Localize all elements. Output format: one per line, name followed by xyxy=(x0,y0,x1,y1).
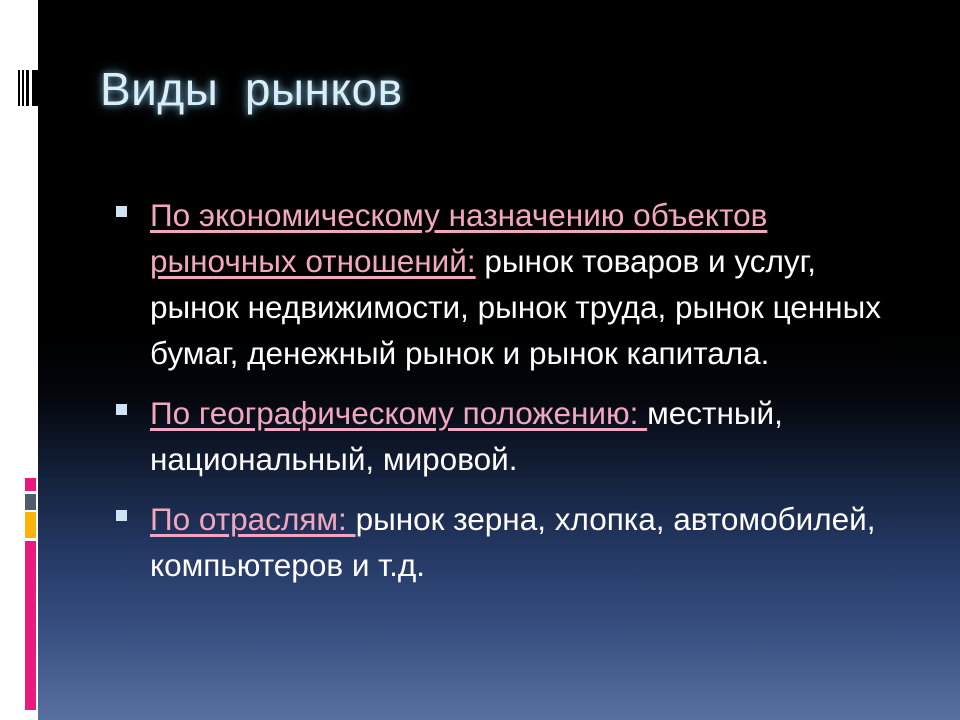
left-decorative-rail xyxy=(0,0,38,720)
rail-chip-gray xyxy=(25,494,36,510)
list-item: По географическому положению: местный, н… xyxy=(113,390,913,482)
barcode-stripes-icon xyxy=(18,70,38,106)
barcode-stripe xyxy=(22,70,24,106)
list-item-text: По отраслям: рынок зерна, хлопка, автомо… xyxy=(150,496,913,588)
slide-title: Виды рынков xyxy=(100,62,403,116)
barcode-stripe xyxy=(26,70,29,106)
list-item-lead: По отраслям: xyxy=(150,501,356,537)
bullet-list: По экономическому назначению объектов ры… xyxy=(113,192,913,602)
slide-canvas: Виды рынков По экономическому назначению… xyxy=(0,0,960,720)
bullet-square-icon xyxy=(116,510,127,521)
barcode-stripe xyxy=(18,70,20,106)
rail-chip-pink-top xyxy=(25,478,36,491)
rail-chip-pink-long xyxy=(25,541,36,710)
list-item-lead: По географическому положению: xyxy=(150,395,647,431)
list-item: По отраслям: рынок зерна, хлопка, автомо… xyxy=(113,496,913,588)
list-item-text: По географическому положению: местный, н… xyxy=(150,390,913,482)
barcode-stripe xyxy=(32,70,38,106)
rail-chip-yellow xyxy=(25,512,36,538)
list-item: По экономическому назначению объектов ры… xyxy=(113,192,913,376)
bullet-square-icon xyxy=(116,206,127,217)
list-item-text: По экономическому назначению объектов ры… xyxy=(150,192,913,376)
bullet-square-icon xyxy=(116,404,127,415)
